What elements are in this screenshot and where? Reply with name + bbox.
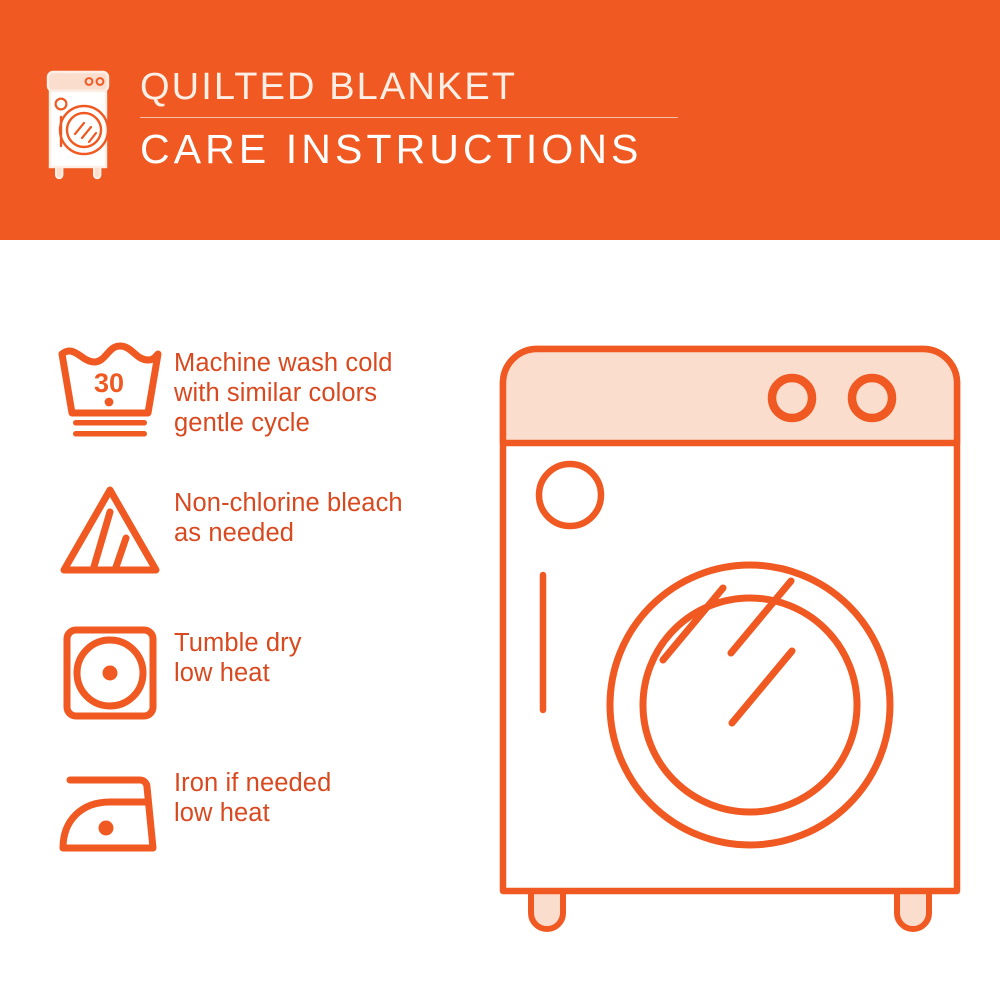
care-text-line: low heat [174, 798, 476, 828]
care-text-line: Non-chlorine bleach [174, 488, 476, 518]
care-text-tumble-dry: Tumble dry low heat [174, 612, 476, 688]
wash-icon-cell: 30 [46, 332, 174, 444]
care-text-line: gentle cycle [174, 408, 476, 438]
washing-machine-illustration [495, 335, 965, 935]
title-divider [140, 117, 678, 118]
care-instruction-list: 30 Machine wash cold with similar colors… [46, 332, 476, 892]
tumble-dry-icon [52, 620, 168, 724]
care-text-line: low heat [174, 658, 476, 688]
tumble-dry-heat-dot [103, 666, 118, 681]
iron-icon [52, 760, 168, 864]
bleach-triangle-icon [52, 480, 168, 584]
washer-knob-right [852, 378, 892, 418]
care-row-iron: Iron if needed low heat [46, 752, 476, 892]
care-text-line: as needed [174, 518, 476, 548]
washer-knob-left [772, 378, 812, 418]
care-instructions-page: QUILTED BLANKET CARE INSTRUCTIONS 30 [0, 0, 1000, 1000]
header-banner: QUILTED BLANKET CARE INSTRUCTIONS [0, 0, 1000, 240]
care-text-wash: Machine wash cold with similar colors ge… [174, 332, 476, 438]
care-text-line: Iron if needed [174, 768, 476, 798]
care-row-bleach: Non-chlorine bleach as needed [46, 472, 476, 612]
page-title-secondary: CARE INSTRUCTIONS [140, 124, 678, 174]
wash-tub-icon: 30 [52, 340, 168, 444]
care-text-line: Tumble dry [174, 628, 476, 658]
wash-dot [105, 398, 114, 407]
care-row-tumble-dry: Tumble dry low heat [46, 612, 476, 752]
care-text-line: Machine wash cold [174, 348, 476, 378]
wash-temperature-label: 30 [94, 368, 124, 398]
iron-icon-cell [46, 752, 174, 864]
care-row-wash: 30 Machine wash cold with similar colors… [46, 332, 476, 472]
header-content: QUILTED BLANKET CARE INSTRUCTIONS [44, 62, 678, 180]
tumble-dry-icon-cell [46, 612, 174, 724]
care-text-iron: Iron if needed low heat [174, 752, 476, 828]
page-title-primary: QUILTED BLANKET [140, 64, 678, 110]
washing-machine-graphic [495, 335, 965, 935]
bleach-icon-cell [46, 472, 174, 584]
iron-heat-dot [99, 821, 114, 836]
washing-machine-icon [44, 68, 112, 180]
care-text-bleach: Non-chlorine bleach as needed [174, 472, 476, 548]
care-text-line: with similar colors [174, 378, 476, 408]
header-title-group: QUILTED BLANKET CARE INSTRUCTIONS [140, 62, 678, 174]
